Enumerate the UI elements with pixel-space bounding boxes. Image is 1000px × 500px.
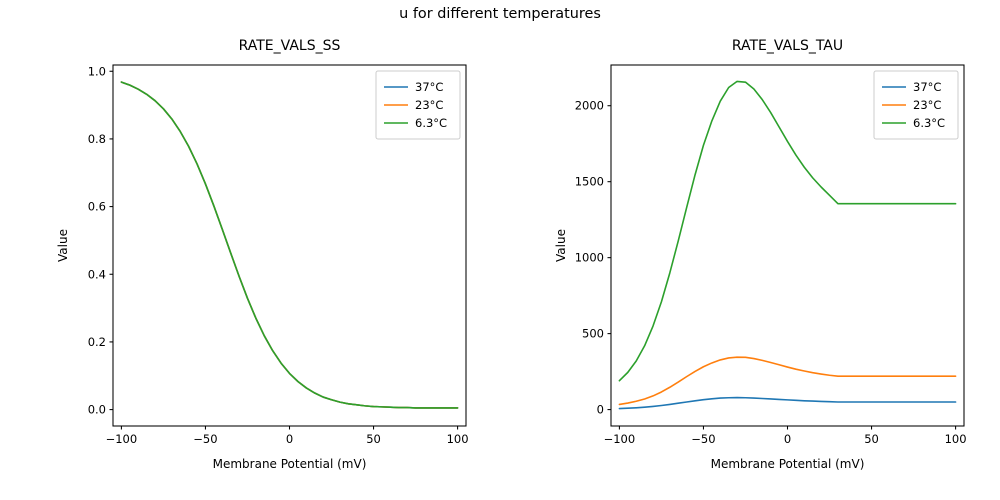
y-axis-label: Value [554, 229, 568, 262]
y-axis-label: Value [56, 229, 70, 262]
x-axis-label: Membrane Potential (mV) [213, 457, 367, 471]
x-tick-label: −100 [604, 432, 636, 446]
legend-label: 23°C [913, 98, 941, 112]
series-line [619, 398, 955, 409]
matplotlib-figure: u for different temperatures RATE_VALS_S… [0, 0, 1000, 500]
y-tick-label: 1000 [575, 251, 604, 265]
plot-canvas-tau: RATE_VALS_TAU−100−5005010005001000150020… [498, 28, 988, 498]
x-tick-label: −100 [106, 432, 138, 446]
x-tick-label: 50 [366, 432, 381, 446]
subplot-rate-vals-ss: RATE_VALS_SS−100−500501000.00.20.40.60.8… [12, 28, 490, 498]
y-tick-label: 2000 [575, 99, 604, 113]
y-tick-label: 0 [597, 403, 604, 417]
legend-label: 37°C [913, 80, 941, 94]
x-tick-label: 100 [945, 432, 967, 446]
axes-title: RATE_VALS_TAU [732, 38, 843, 54]
y-tick-label: 0.4 [88, 267, 106, 281]
legend-label: 6.3°C [913, 116, 945, 130]
subplot-rate-vals-tau: RATE_VALS_TAU−100−5005010005001000150020… [498, 28, 988, 498]
legend[interactable]: 37°C23°C6.3°C [874, 71, 958, 139]
x-tick-label: 0 [286, 432, 293, 446]
x-tick-label: 100 [447, 432, 469, 446]
axes-title: RATE_VALS_SS [239, 38, 341, 54]
plot-canvas-ss: RATE_VALS_SS−100−500501000.00.20.40.60.8… [12, 28, 490, 498]
y-tick-label: 0.6 [88, 200, 106, 214]
x-tick-label: −50 [691, 432, 715, 446]
y-tick-label: 0.0 [88, 403, 106, 417]
y-tick-label: 1500 [575, 175, 604, 189]
legend-label: 37°C [415, 80, 443, 94]
x-tick-label: −50 [193, 432, 217, 446]
legend-label: 23°C [415, 98, 443, 112]
x-tick-label: 50 [864, 432, 879, 446]
y-tick-label: 0.2 [88, 335, 106, 349]
legend[interactable]: 37°C23°C6.3°C [376, 71, 460, 139]
series-line [619, 357, 955, 404]
figure-suptitle: u for different temperatures [0, 6, 1000, 22]
x-tick-label: 0 [784, 432, 791, 446]
y-tick-label: 1.0 [88, 64, 106, 78]
x-axis-label: Membrane Potential (mV) [711, 457, 865, 471]
y-tick-label: 500 [582, 327, 604, 341]
y-tick-label: 0.8 [88, 132, 106, 146]
legend-label: 6.3°C [415, 116, 447, 130]
